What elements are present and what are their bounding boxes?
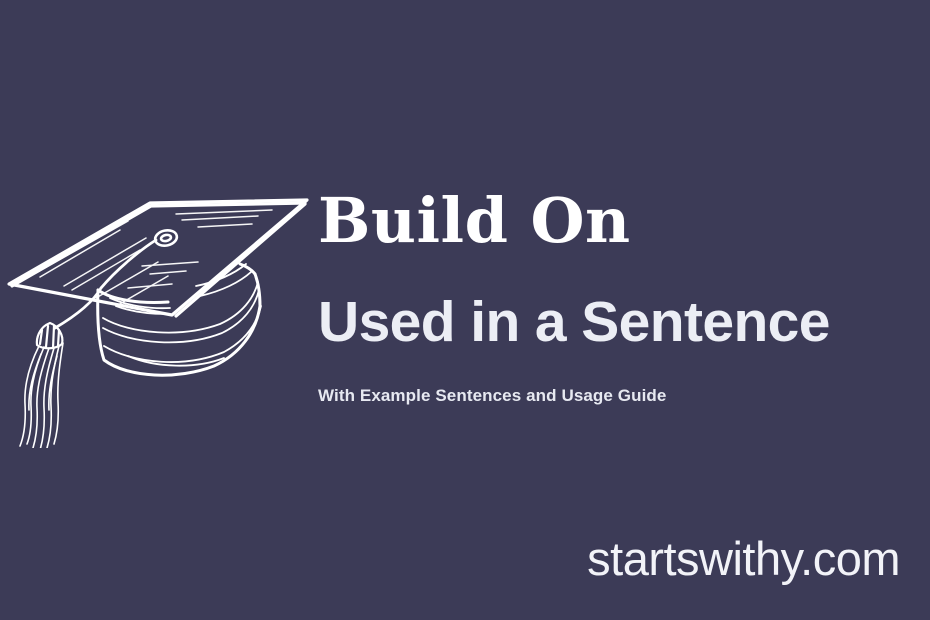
tagline-text: With Example Sentences and Usage Guide — [318, 351, 918, 404]
headline-group: Build On Used in a Sentence With Example… — [318, 190, 918, 404]
brand-domain-label: startswithy.com — [587, 535, 900, 582]
graduation-cap-icon — [0, 178, 320, 448]
page-title-term: Build On — [318, 190, 918, 252]
tassel-strands — [20, 343, 63, 448]
cap-button-knob — [154, 228, 179, 247]
cap-base — [98, 264, 260, 375]
mortarboard-top — [9, 200, 307, 316]
banner-card: Build On Used in a Sentence With Example… — [0, 0, 930, 620]
page-title-phrase: Used in a Sentence — [318, 252, 918, 351]
mortarboard-hatching — [36, 210, 272, 305]
